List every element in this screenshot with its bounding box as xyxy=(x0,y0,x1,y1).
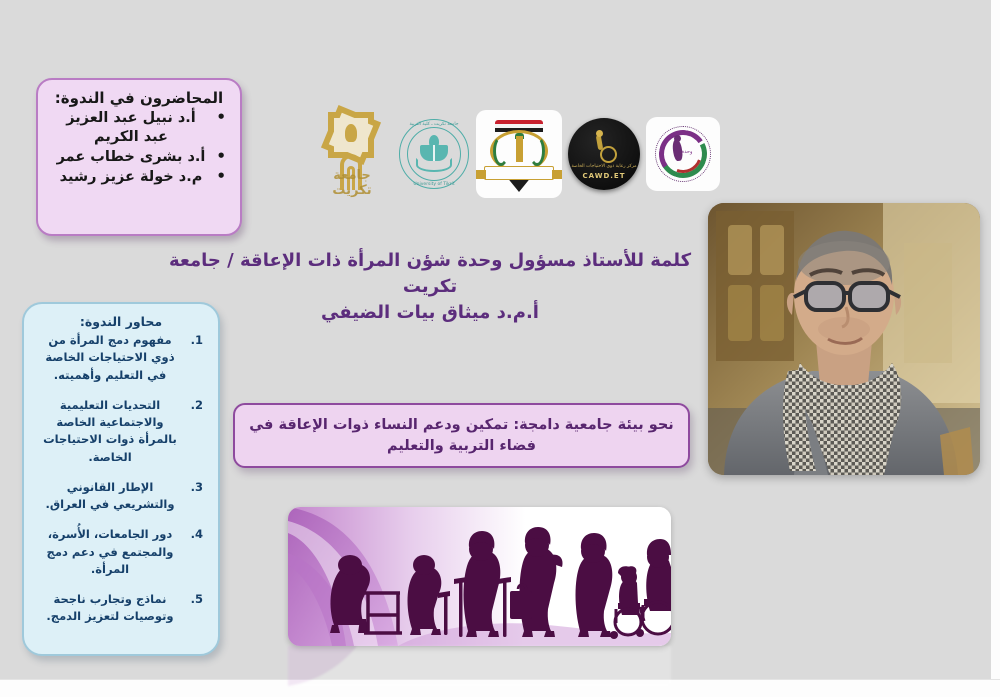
tikrit-logo-label: جامعة تكريت xyxy=(312,168,392,198)
headline-line-1: كلمة للأستاذ مسؤول وحدة شؤن المرأة ذات ا… xyxy=(150,248,710,300)
seal-text-top: جامعة تكريت ـ كلية التربية xyxy=(398,122,470,127)
agenda-list: مفهوم دمج المرأة من ذوي الاحتياجات الخاص… xyxy=(36,332,206,626)
agenda-item: الإطار القانوني والتشريعي في العراق. xyxy=(36,479,184,514)
wreath-left xyxy=(493,136,509,166)
lecturers-title: المحاضرون في الندوة: xyxy=(48,89,230,108)
slide-edge-bottom xyxy=(0,679,1000,697)
lecturer-item: م.د خولة عزيز رشيد xyxy=(48,168,226,187)
emblem-tower xyxy=(516,136,523,162)
speaker-portrait-photo xyxy=(708,203,980,475)
lecturers-box: المحاضرون في الندوة: أ.د نبيل عبد العزيز… xyxy=(36,78,242,236)
theme-banner: نحو بيئة جامعية دامجة: تمكين ودعم النساء… xyxy=(233,403,690,468)
agenda-item: مفهوم دمج المرأة من ذوي الاحتياجات الخاص… xyxy=(36,332,184,384)
lecturer-item: أ.د نبيل عبد العزيز عبد الكريم xyxy=(48,109,226,147)
women-with-disabilities-illustration xyxy=(288,507,671,646)
seal-wheat-icon xyxy=(416,158,452,172)
logos-strip: ﻭﺣﺪﺓ مركز رعاية ذوي الاحتياجات الخاصة CA… xyxy=(270,104,720,204)
logo-figure-body xyxy=(596,135,604,151)
presentation-slide: المحاضرون في الندوة: أ.د نبيل عبد العزيز… xyxy=(0,0,1000,697)
agenda-item: التحديات التعليمية والاجتماعية الخاصة با… xyxy=(36,397,184,466)
headline-line-2: أ.م.د ميثاق بيات الضيفي xyxy=(150,300,710,326)
theme-banner-text: نحو بيئة جامعية دامجة: تمكين ودعم النساء… xyxy=(235,415,688,456)
slide-edge-right xyxy=(991,0,1000,697)
portrait-graphic xyxy=(708,203,980,475)
lamp-icon xyxy=(345,124,357,142)
agenda-box: محاور الندوة: مفهوم دمج المرأة من ذوي ال… xyxy=(22,302,220,656)
agenda-title: محاور الندوة: xyxy=(36,314,206,329)
seal-text-bottom: University of Tikrit xyxy=(398,182,470,187)
logo-figure-head xyxy=(596,130,603,137)
cawd-white-logo: ﻭﺣﺪﺓ xyxy=(646,117,720,191)
wreath-right xyxy=(529,136,545,166)
agenda-item: نماذج وتجارب ناجحة وتوصيات لتعزيز الدمج. xyxy=(36,591,184,626)
cawd-black-title: CAWD.ET xyxy=(568,172,640,180)
lecturer-item: أ.د بشرى خطاب عمر xyxy=(48,148,226,167)
logo-arabic-script: ﻭﺣﺪﺓ xyxy=(676,150,698,164)
agenda-item: دور الجامعات، الأُسرة، والمجتمع في دعم د… xyxy=(36,526,184,578)
iraq-ministry-higher-education-logo xyxy=(476,110,562,198)
illustration-graphic xyxy=(288,507,671,646)
lecturers-list: أ.د نبيل عبد العزيز عبد الكريم أ.د بشرى … xyxy=(48,109,230,188)
university-teal-seal-logo: جامعة تكريت ـ كلية التربية University of… xyxy=(398,118,470,190)
cawd-black-logo: مركز رعاية ذوي الاحتياجات الخاصة CAWD.ET xyxy=(568,118,640,190)
cawd-black-subtitle: مركز رعاية ذوي الاحتياجات الخاصة xyxy=(568,164,640,170)
emblem-banner xyxy=(484,166,554,180)
tikrit-university-gold-logo: جامعة تكريت xyxy=(312,108,392,200)
page-title: كلمة للأستاذ مسؤول وحدة شؤن المرأة ذات ا… xyxy=(150,248,710,326)
